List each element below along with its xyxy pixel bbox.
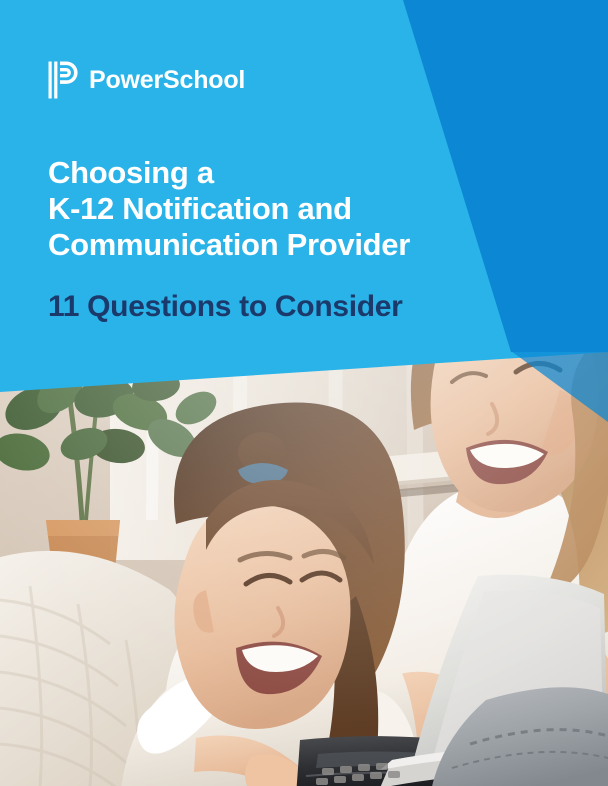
page-subtitle: 11 Questions to Consider: [48, 289, 403, 325]
title-line-1: Choosing a: [48, 155, 518, 191]
title-line-3: Communication Provider: [48, 227, 518, 263]
powerschool-p-logo-icon: [48, 61, 78, 99]
cover-page: PowerSchool Choosing a K-12 Notification…: [0, 0, 608, 786]
page-title: Choosing a K-12 Notification and Communi…: [48, 155, 518, 263]
powerschool-wordmark: PowerSchool: [89, 68, 245, 93]
powerschool-logo[interactable]: PowerSchool: [48, 61, 245, 99]
title-line-2: K-12 Notification and: [48, 191, 518, 227]
